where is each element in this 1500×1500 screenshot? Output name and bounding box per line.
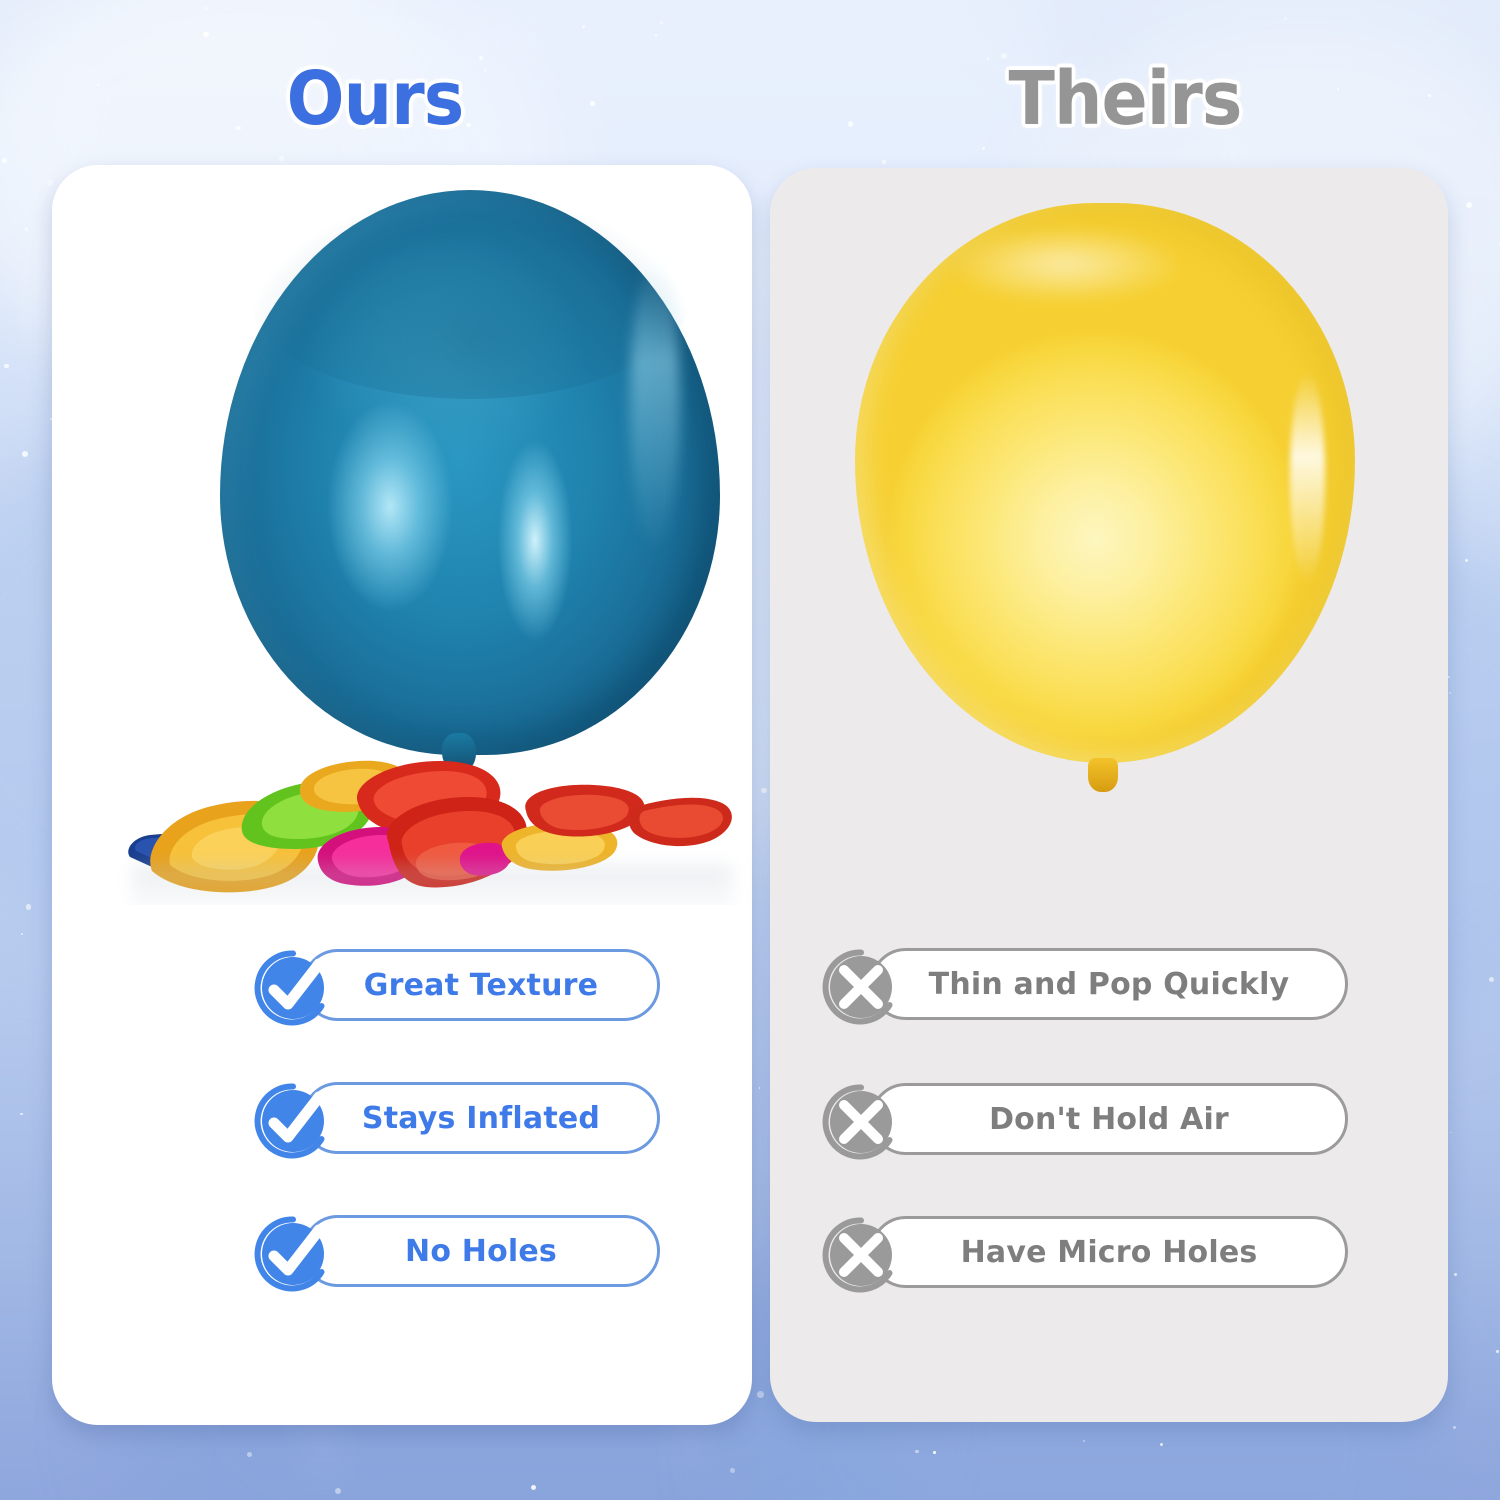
drawback-pill-have-micro-holes[interactable]: Have Micro Holes	[870, 1216, 1348, 1288]
drawback-label: Don't Hold Air	[989, 1102, 1229, 1137]
background-speck	[933, 1451, 936, 1454]
background-speck	[279, 156, 284, 161]
x-circle-icon	[811, 1072, 911, 1172]
background-speck	[655, 34, 658, 37]
feature-label: No Holes	[405, 1234, 557, 1269]
background-speck	[1083, 1440, 1085, 1442]
background-speck	[1284, 17, 1287, 20]
x-circle-icon	[811, 937, 911, 1037]
background-speck	[757, 1391, 764, 1398]
background-speck	[479, 56, 483, 60]
background-speck	[1465, 559, 1469, 563]
background-speck	[582, 25, 585, 28]
background-speck	[1160, 1443, 1163, 1446]
background-speck	[1001, 53, 1007, 59]
background-speck	[2, 158, 7, 163]
background-speck	[1466, 202, 1472, 208]
check-circle-icon	[243, 1071, 343, 1171]
ours-product-image	[52, 165, 752, 905]
balloon-rim-light	[630, 258, 680, 552]
balloon-top-highlight	[945, 225, 1185, 303]
ours-card: Great Texture Stays Inflated No Holes	[52, 165, 752, 1425]
background-speck	[761, 788, 767, 794]
photo-reflection	[132, 865, 732, 905]
feature-label: Great Texture	[364, 968, 598, 1003]
drawback-label: Thin and Pop Quickly	[929, 967, 1290, 1002]
feature-label: Stays Inflated	[362, 1101, 600, 1136]
feature-pill-no-holes[interactable]: No Holes	[302, 1215, 660, 1287]
background-speck	[21, 933, 23, 935]
drawback-label: Have Micro Holes	[961, 1235, 1258, 1270]
background-speck	[982, 147, 985, 150]
background-speck	[1489, 977, 1494, 982]
ours-title: Ours	[30, 62, 720, 136]
theirs-card: Thin and Pop Quickly Don't Hold Air Have…	[770, 168, 1448, 1422]
theirs-title: Theirs	[780, 62, 1470, 136]
background-speck	[915, 1450, 919, 1454]
background-speck	[1496, 1350, 1499, 1353]
yellow-balloon-graphic	[855, 203, 1355, 763]
background-speck	[26, 904, 32, 910]
background-speck	[882, 160, 886, 164]
background-speck	[278, 139, 280, 141]
background-speck	[987, 58, 989, 60]
background-speck	[204, 7, 207, 10]
background-speck	[660, 21, 663, 24]
check-circle-icon	[243, 938, 343, 1038]
background-speck	[22, 451, 28, 457]
background-speck	[25, 227, 29, 231]
background-speck	[1450, 1132, 1452, 1134]
theirs-product-image	[770, 168, 1448, 908]
x-circle-icon	[811, 1205, 911, 1305]
blue-balloon-graphic	[220, 190, 720, 755]
background-speck	[264, 147, 266, 149]
feature-pill-stays-inflated[interactable]: Stays Inflated	[302, 1082, 660, 1154]
background-speck	[1454, 1273, 1457, 1276]
background-speck	[759, 1087, 761, 1089]
background-speck	[20, 1113, 23, 1116]
background-speck	[4, 364, 9, 369]
background-speck	[203, 32, 208, 37]
balloon-top-shading	[250, 196, 690, 399]
background-speck	[1449, 692, 1452, 695]
background-speck	[730, 1468, 735, 1473]
background-speck	[531, 1485, 537, 1491]
background-speck	[247, 1452, 252, 1457]
drawback-pill-dont-hold-air[interactable]: Don't Hold Air	[870, 1083, 1348, 1155]
background-speck	[1448, 676, 1450, 678]
feature-pill-great-texture[interactable]: Great Texture	[302, 949, 660, 1021]
yellow-balloon-neck	[1088, 758, 1118, 792]
balloon-rim-light	[1290, 371, 1325, 584]
background-speck	[1453, 1426, 1456, 1429]
check-circle-icon	[243, 1204, 343, 1304]
drawback-pill-thin-and-pop-quickly[interactable]: Thin and Pop Quickly	[870, 948, 1348, 1020]
background-speck	[335, 1488, 341, 1494]
